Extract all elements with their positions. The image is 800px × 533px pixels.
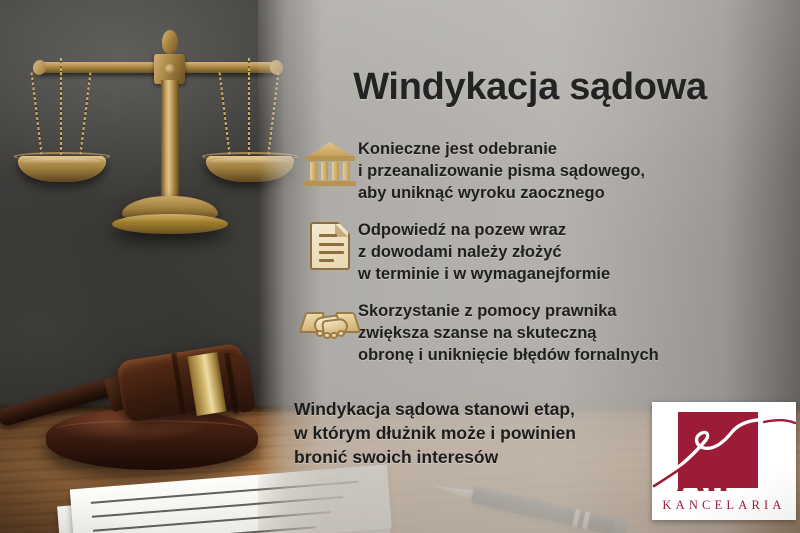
list-item-text: Konieczne jest odebranie i przeanalizowa… — [358, 138, 645, 205]
doc-text-line — [319, 259, 334, 262]
list-item: Skorzystanie z pomocy prawnika zwiększa … — [300, 300, 800, 367]
chain — [79, 72, 92, 162]
gavel-icon — [0, 330, 260, 460]
chain — [248, 72, 250, 162]
text-line: z dowodami należy złożyć — [358, 242, 610, 264]
page-title: Windykacja sądowa — [300, 66, 760, 109]
column — [343, 162, 350, 180]
list-item-text: Odpowiedź na pozew wraz z dowodami należ… — [358, 219, 610, 286]
stylobate — [304, 181, 356, 186]
bullet-list: Konieczne jest odebranie i przeanalizowa… — [300, 138, 800, 380]
text-line: Odpowiedź na pozew wraz — [358, 220, 610, 242]
chain — [31, 72, 44, 162]
column — [310, 162, 317, 180]
list-item: Konieczne jest odebranie i przeanalizowa… — [300, 138, 800, 205]
doc-text-line — [319, 251, 344, 254]
scales-of-justice-icon — [18, 18, 298, 243]
text-line: Konieczne jest odebranie — [358, 139, 645, 161]
scales-base — [112, 214, 228, 234]
handshake-icon — [300, 302, 358, 358]
doc-text-line — [319, 243, 344, 246]
chain — [219, 72, 232, 162]
list-item-text: Skorzystanie z pomocy prawnika zwiększa … — [358, 300, 659, 367]
doc-text-line — [319, 234, 337, 237]
bank-courthouse-icon — [300, 140, 358, 196]
text-line: zwiększa szanse na skuteczną — [358, 323, 659, 345]
logo-wordmark: AIF — [676, 458, 776, 498]
company-logo[interactable]: AIF KANCELARIA — [652, 402, 796, 520]
handshake-finger — [337, 330, 345, 337]
logo-subtitle: KANCELARIA — [652, 498, 796, 513]
architrave — [305, 156, 355, 161]
text-line: i przeanalizowanie pisma sądowego, — [358, 161, 645, 183]
scales-finial — [162, 30, 178, 54]
poster-image: Windykacja sądowa Konieczne j — [0, 0, 800, 533]
text-line: w terminie i w wymaganejformie — [358, 264, 610, 286]
text-line: obronę i uniknięcie błędów fornalnych — [358, 345, 659, 367]
scales-post — [161, 80, 179, 210]
document-icon — [300, 221, 358, 277]
scales-pan-left — [12, 68, 112, 198]
pan-dish — [18, 156, 106, 182]
text-line: Skorzystanie z pomocy prawnika — [358, 301, 659, 323]
column — [332, 162, 339, 180]
column — [321, 162, 328, 180]
list-item: Odpowiedź na pozew wraz z dowodami należ… — [300, 219, 800, 286]
text-line: aby uniknąć wyroku zaocznego — [358, 183, 645, 205]
chain — [60, 72, 62, 162]
